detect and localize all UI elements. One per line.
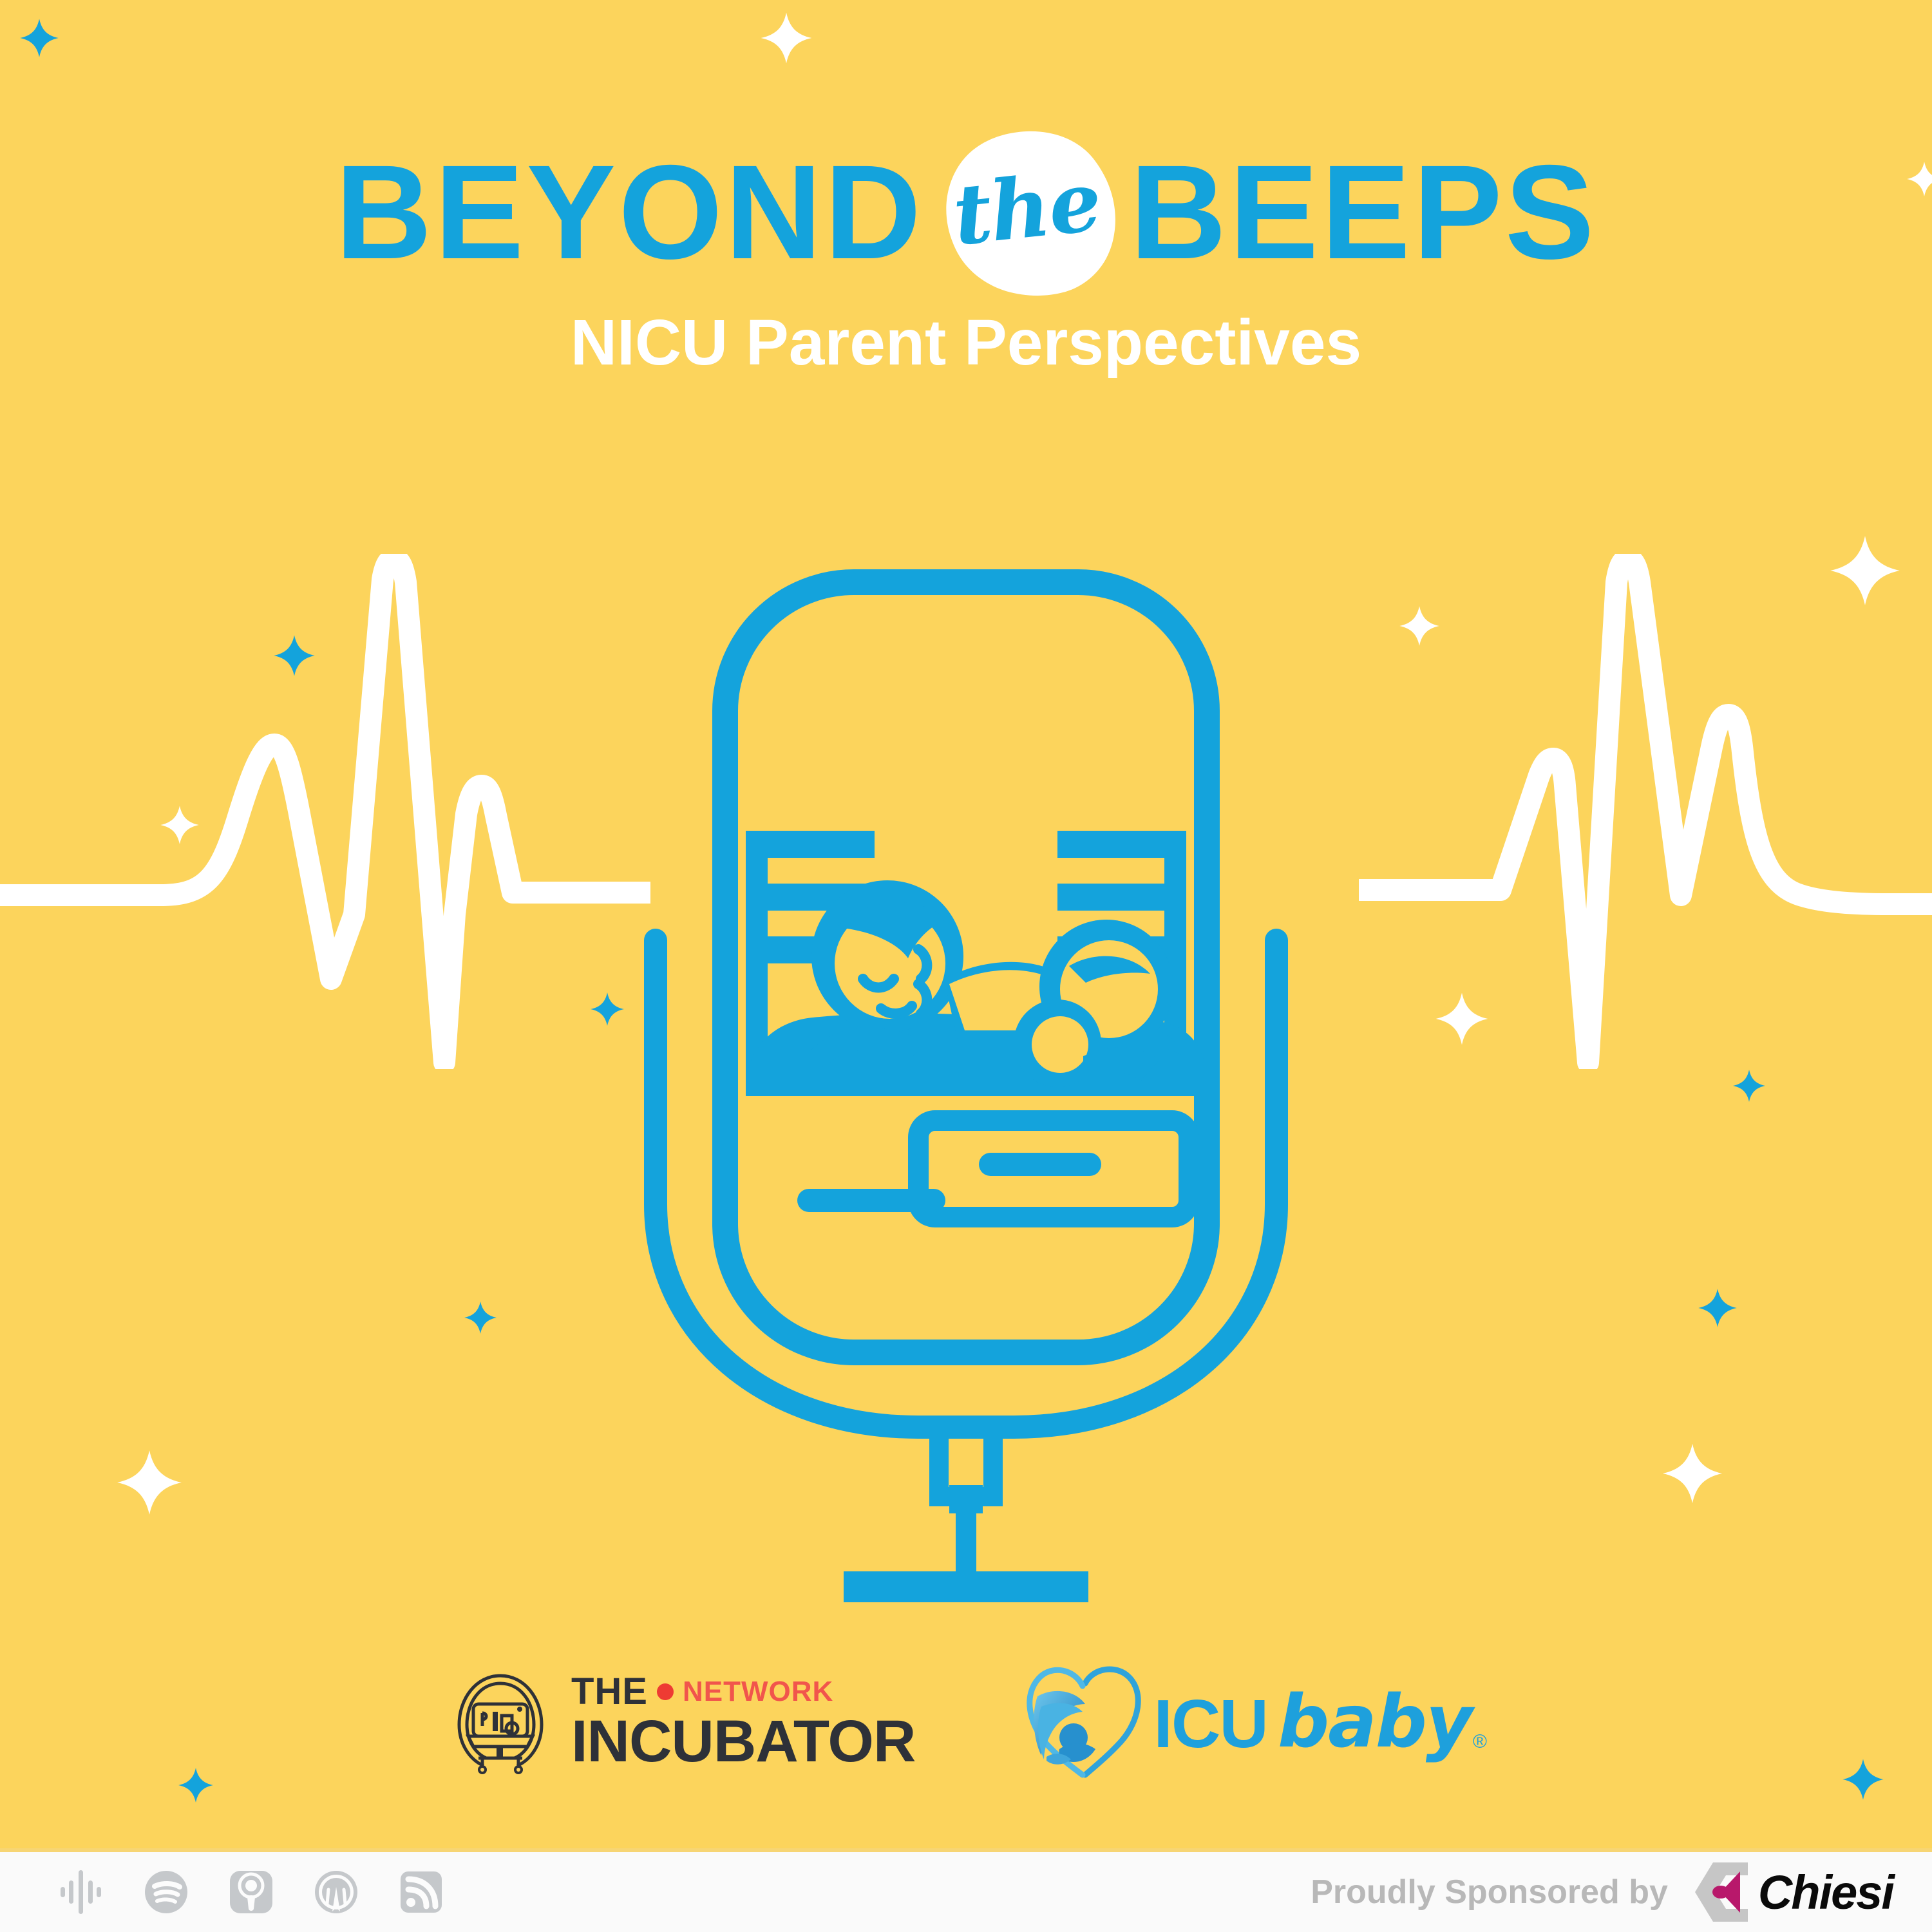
overcast-icon[interactable]: [313, 1869, 359, 1915]
ekg-heartbeat-line-left: [0, 554, 650, 1069]
incubator-network-label: NETWORK: [683, 1678, 833, 1706]
incubator-icon: [445, 1667, 556, 1777]
page-title: BEYOND the BEEPS: [0, 129, 1932, 296]
google-podcasts-icon[interactable]: [58, 1869, 104, 1915]
title-word-beyond: BEYOND: [335, 146, 923, 279]
page-subtitle: NICU Parent Perspectives: [0, 310, 1932, 375]
ekg-heartbeat-line-right: [1359, 554, 1932, 1069]
registered-trademark-symbol: ®: [1473, 1731, 1487, 1753]
baby-wordmark: baby: [1278, 1686, 1472, 1758]
chiesi-hexagon-icon: [1692, 1860, 1754, 1924]
title-word-the: the: [949, 153, 1104, 265]
incubator-the-label: THE: [571, 1673, 648, 1710]
incubator-wordmark: INCUBATOR: [571, 1712, 915, 1771]
the-incubator-logo[interactable]: THE NETWORK INCUBATOR: [445, 1667, 915, 1777]
sparkle-icon: [1662, 1443, 1723, 1504]
sparkle-icon: [464, 1301, 497, 1334]
incubator-red-dot-icon: [657, 1683, 674, 1700]
chiesi-logo[interactable]: Chiesi: [1692, 1860, 1893, 1924]
cover-header: BEYOND the BEEPS NICU Parent Perspective…: [0, 0, 1932, 375]
podcast-platform-bar: Proudly Sponsored by Chiesi: [0, 1848, 1932, 1932]
sparkle-icon: [116, 1449, 183, 1516]
rss-feed-icon[interactable]: [398, 1869, 444, 1915]
partner-logo-row: THE NETWORK INCUBATOR: [0, 1662, 1932, 1783]
spotify-icon[interactable]: [143, 1869, 189, 1915]
the-cloud-badge: the: [930, 129, 1123, 296]
sponsor-block: Proudly Sponsored by Chiesi: [1311, 1860, 1893, 1924]
title-word-beeps: BEEPS: [1130, 146, 1596, 279]
apple-podcasts-icon[interactable]: [228, 1869, 274, 1915]
sparkle-icon: [1732, 1069, 1766, 1103]
platform-icon-list: [58, 1869, 444, 1915]
heart-with-mother-and-baby-icon: [1018, 1662, 1147, 1783]
icu-baby-logo[interactable]: ICU baby ®: [1018, 1662, 1487, 1783]
podcast-cover-art: BEYOND the BEEPS NICU Parent Perspective…: [0, 0, 1932, 1932]
icu-wordmark: ICU: [1153, 1690, 1267, 1758]
chiesi-wordmark: Chiesi: [1758, 1865, 1893, 1920]
sparkle-icon: [1698, 1288, 1738, 1328]
sponsor-label: Proudly Sponsored by: [1311, 1873, 1668, 1911]
incubator-microphone-illustration: [560, 554, 1372, 1610]
